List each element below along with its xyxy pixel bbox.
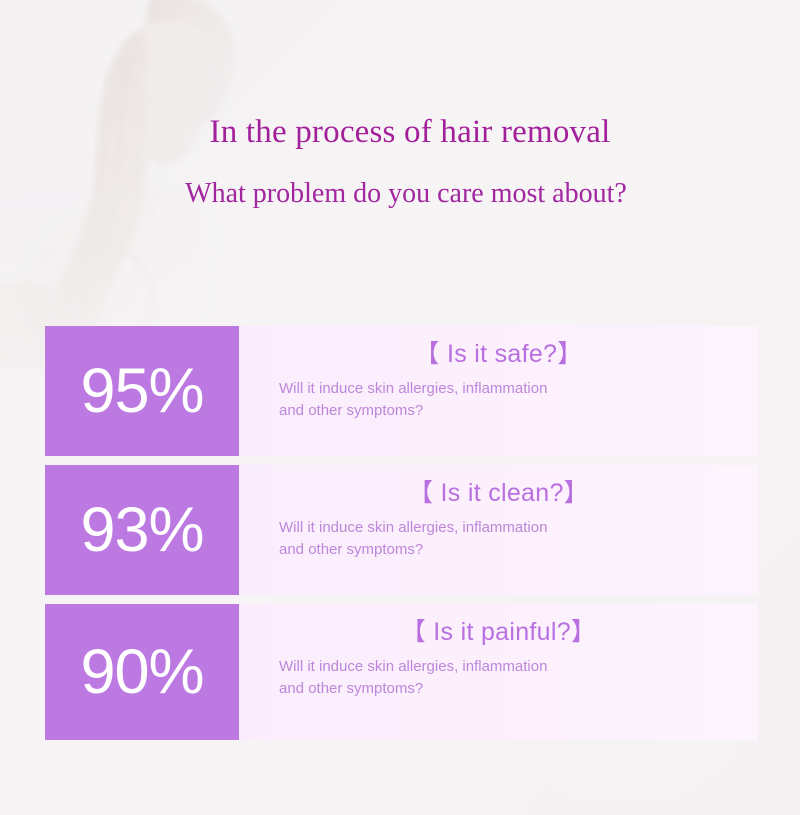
description-line-2: and other symptoms? (279, 678, 758, 700)
description-line-2: and other symptoms? (279, 400, 758, 422)
percentage-value: 93% (80, 499, 203, 562)
stat-card-title: 【 Is it safe?】 (239, 326, 758, 369)
description-line-2: and other symptoms? (279, 539, 758, 561)
stat-card-description: Will it induce skin allergies, inflammat… (239, 647, 758, 700)
description-line-1: Will it induce skin allergies, inflammat… (279, 378, 758, 400)
stat-card-body: 【 Is it clean?】 Will it induce skin alle… (239, 465, 758, 595)
stat-card-body: 【 Is it safe?】 Will it induce skin aller… (239, 326, 758, 456)
stats-card-list: 95% 【 Is it safe?】 Will it induce skin a… (45, 326, 758, 740)
stat-card-description: Will it induce skin allergies, inflammat… (239, 508, 758, 561)
percentage-value: 95% (80, 360, 203, 423)
stat-card: 93% 【 Is it clean?】 Will it induce skin … (45, 465, 758, 595)
stat-card-title: 【 Is it clean?】 (239, 465, 758, 508)
page-title: In the process of hair removal (0, 112, 800, 152)
heading-block: In the process of hair removal What prob… (0, 112, 800, 212)
percentage-block: 95% (45, 326, 239, 456)
stat-card-description: Will it induce skin allergies, inflammat… (239, 369, 758, 422)
percentage-value: 90% (80, 641, 203, 704)
description-line-1: Will it induce skin allergies, inflammat… (279, 656, 758, 678)
percentage-block: 93% (45, 465, 239, 595)
stat-card-title: 【 Is it painful?】 (239, 604, 758, 647)
infographic-poster: In the process of hair removal What prob… (0, 0, 800, 815)
description-line-1: Will it induce skin allergies, inflammat… (279, 517, 758, 539)
stat-card: 90% 【 Is it painful?】 Will it induce ski… (45, 604, 758, 740)
stat-card: 95% 【 Is it safe?】 Will it induce skin a… (45, 326, 758, 456)
percentage-block: 90% (45, 604, 239, 740)
stat-card-body: 【 Is it painful?】 Will it induce skin al… (239, 604, 758, 740)
page-subtitle: What problem do you care most about? (0, 176, 800, 212)
